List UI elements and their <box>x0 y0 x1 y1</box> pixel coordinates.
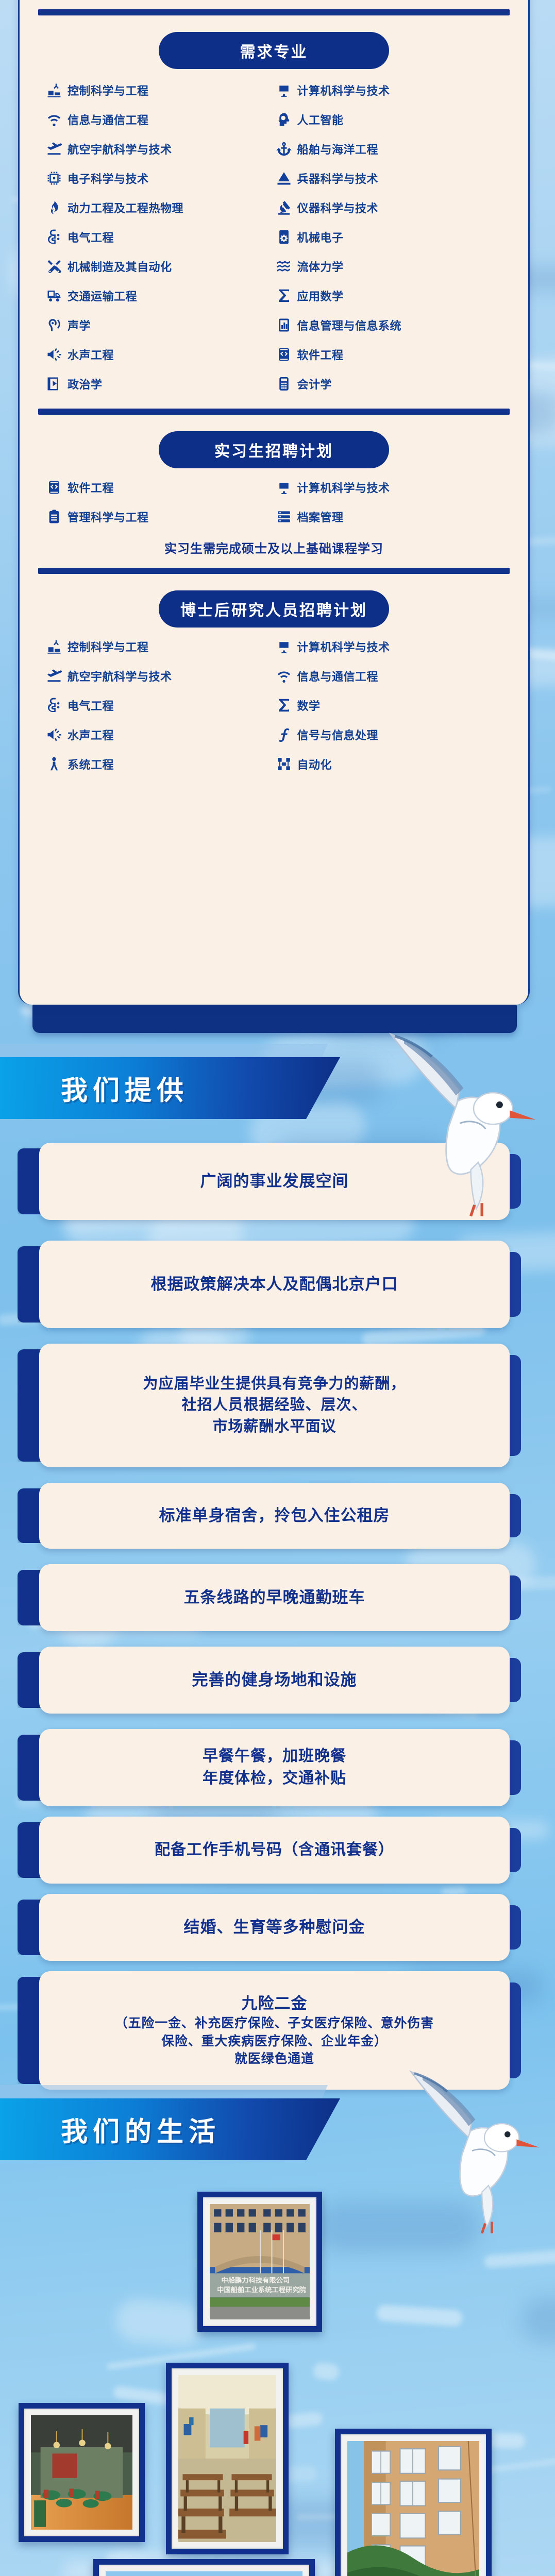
power-plug-icon <box>46 229 62 245</box>
anchor-icon <box>276 141 292 157</box>
major-label: 航空宇航科学与技术 <box>68 668 172 684</box>
major-item: 人工智能 <box>276 105 506 134</box>
major-item: 动力工程及工程热物理 <box>46 193 276 222</box>
major-label: 控制科学与工程 <box>68 638 149 655</box>
benefit-main-text: 结婚、生育等多种慰问金 <box>184 1916 365 1939</box>
section-title-postdoc: 博士后研究人员招聘计划 <box>159 590 389 628</box>
major-item: 控制科学与工程 <box>46 75 276 105</box>
waves-icon <box>276 259 292 274</box>
sonar-speaker-icon <box>46 727 62 742</box>
section-title-majors: 需求专业 <box>159 32 389 69</box>
sound-ear-icon <box>46 317 62 333</box>
benefit-card-body: 五条线路的早晚通勤班车 <box>39 1564 510 1631</box>
major-label: 信息与通信工程 <box>68 111 149 128</box>
benefit-main-text: 早餐午餐，加班晚餐年度体检，交通补贴 <box>203 1745 346 1789</box>
major-label: 控制科学与工程 <box>68 82 149 98</box>
photo-image <box>31 2415 132 2530</box>
clipboard-icon <box>46 509 62 524</box>
major-label: 水声工程 <box>68 346 114 363</box>
major-label: 航空宇航科学与技术 <box>68 141 172 157</box>
major-item: 信息与通信工程 <box>276 661 506 690</box>
major-item: 应用数学 <box>276 281 506 310</box>
flame-icon <box>46 200 62 215</box>
person-icon <box>46 756 62 772</box>
rule-after-intern <box>38 568 510 574</box>
cafe-lounge-photo[interactable] <box>19 2403 145 2542</box>
photo-mat <box>172 2368 283 2549</box>
bg-brush-streak <box>312 2362 340 2381</box>
benefit-card: 根据政策解决本人及配偶北京户口 <box>18 1241 521 1328</box>
major-item: 软件工程 <box>276 340 506 369</box>
major-label: 档案管理 <box>297 509 344 525</box>
major-label: 电子科学与技术 <box>68 170 149 187</box>
benefit-card-body: 根据政策解决本人及配偶北京户口 <box>39 1241 510 1328</box>
major-label: 电气工程 <box>68 229 114 245</box>
major-item: 航空宇航科学与技术 <box>46 134 276 163</box>
major-item: 计算机科学与技术 <box>276 472 506 502</box>
monitor-icon <box>276 480 292 495</box>
majors-grid: 控制科学与工程计算机科学与技术信息与通信工程人工智能航空宇航科学与技术船舶与海洋… <box>20 69 528 398</box>
major-label: 系统工程 <box>68 756 114 772</box>
power-plug-icon <box>46 698 62 713</box>
major-label: 动力工程及工程热物理 <box>68 199 183 216</box>
benefit-card-body: 结婚、生育等多种慰问金 <box>39 1894 510 1961</box>
wrench-cross-icon <box>46 259 62 274</box>
code-brackets-icon <box>46 480 62 495</box>
major-item: 机械电子 <box>276 222 506 251</box>
benefit-text: 五条线路的早晚通勤班车 <box>184 1586 365 1609</box>
major-item: 船舶与海洋工程 <box>276 134 506 163</box>
major-item: 信息与通信工程 <box>46 105 276 134</box>
major-item: 交通运输工程 <box>46 281 276 310</box>
robot-arm-icon <box>46 82 62 98</box>
photo-mat: 中船鹏力科技有限公司 中国船舶工业系统工程研究院 <box>203 2197 316 2326</box>
robot-arm-icon <box>46 639 62 654</box>
major-item: 兵器科学与技术 <box>276 163 506 193</box>
banner-we-provide: 我们提供 <box>0 1057 340 1119</box>
major-item: 计算机科学与技术 <box>276 75 506 105</box>
major-label: 软件工程 <box>68 479 114 496</box>
major-label: 计算机科学与技术 <box>297 479 390 496</box>
benefit-text: 早餐午餐，加班晚餐年度体检，交通补贴 <box>203 1745 346 1789</box>
major-item: 会计学 <box>276 369 506 398</box>
sigma-icon <box>276 698 292 713</box>
major-label: 会计学 <box>297 376 332 392</box>
benefit-text: 九险二金（五险一金、补充医疗保险、子女医疗保险、意外伤害保险、重大疾病医疗保险、… <box>115 1992 434 2069</box>
major-label: 信息与通信工程 <box>297 668 379 684</box>
photo-image <box>178 2375 276 2542</box>
book-play-icon <box>46 376 62 392</box>
major-item: 声学 <box>46 310 276 340</box>
major-label: 流体力学 <box>297 258 344 275</box>
major-label: 声学 <box>68 317 91 333</box>
automation-icon <box>276 756 292 772</box>
benefit-card-body: 为应届毕业生提供具有竞争力的薪酬，社招人员根据经验、层次、市场薪酬水平面议 <box>39 1344 510 1467</box>
benefit-card: 早餐午餐，加班晚餐年度体检，交通补贴 <box>18 1729 521 1806</box>
sonar-speaker-icon <box>46 347 62 362</box>
benefit-text: 完善的健身场地和设施 <box>192 1669 357 1691</box>
recruitment-panel: 需求专业 控制科学与工程计算机科学与技术信息与通信工程人工智能航空宇航科学与技术… <box>18 0 530 1005</box>
photo-image <box>347 2441 479 2576</box>
major-label: 交通运输工程 <box>68 287 137 304</box>
benefit-main-text: 根据政策解决本人及配偶北京户口 <box>151 1273 398 1296</box>
signal-f-icon <box>276 727 292 742</box>
benefit-card: 为应届毕业生提供具有竞争力的薪酬，社招人员根据经验、层次、市场薪酬水平面议 <box>18 1344 521 1467</box>
benefit-main-text: 完善的健身场地和设施 <box>192 1669 357 1691</box>
seagull-illustration <box>367 1023 552 1218</box>
wifi-icon <box>276 668 292 684</box>
benefit-main-text: 五条线路的早晚通勤班车 <box>184 1586 365 1609</box>
benefit-card: 标准单身宿舍，拎包入住公租房 <box>18 1483 521 1549</box>
major-label: 计算机科学与技术 <box>297 638 390 655</box>
truck-icon <box>46 288 62 303</box>
dormitory-photo[interactable] <box>335 2429 492 2576</box>
seagull-illustration <box>390 2056 554 2241</box>
photo-mat <box>24 2409 139 2536</box>
missile-icon <box>276 171 292 186</box>
monitor-icon <box>276 82 292 98</box>
benefit-text: 标准单身宿舍，拎包入住公租房 <box>159 1504 390 1527</box>
major-label: 管理科学与工程 <box>68 509 149 525</box>
major-label: 机械电子 <box>297 229 344 245</box>
major-label: 电气工程 <box>68 697 114 714</box>
major-item: 水声工程 <box>46 340 276 369</box>
brain-gear-icon <box>276 112 292 127</box>
phone-gear-icon <box>276 229 292 245</box>
monitor-icon <box>276 639 292 654</box>
major-item: 流体力学 <box>276 251 506 281</box>
major-item: 信号与信息处理 <box>276 720 506 749</box>
major-item: 系统工程 <box>46 749 276 778</box>
photo-image <box>106 2571 302 2576</box>
benefit-main-text: 九险二金 <box>115 1992 434 2015</box>
benefit-card: 完善的健身场地和设施 <box>18 1647 521 1714</box>
banner-our-life: 我们的生活 <box>0 2098 340 2160</box>
major-item: 仪器科学与技术 <box>276 193 506 222</box>
major-item: 政治学 <box>46 369 276 398</box>
headquarters-sign-photo[interactable]: 中船鹏力科技有限公司 中国船舶工业系统工程研究院 <box>197 2192 322 2332</box>
microscope-icon <box>276 200 292 215</box>
photo-mat <box>341 2434 486 2576</box>
major-label: 兵器科学与技术 <box>297 170 379 187</box>
major-item: 自动化 <box>276 749 506 778</box>
major-label: 仪器科学与技术 <box>297 199 379 216</box>
benefit-main-text: 配备工作手机号码（含通讯套餐） <box>155 1839 394 1861</box>
major-item: 电子科学与技术 <box>46 163 276 193</box>
benefit-card-body: 标准单身宿舍，拎包入住公租房 <box>39 1483 510 1549</box>
code-brackets-icon <box>276 347 292 362</box>
major-item: 机械制造及其自动化 <box>46 251 276 281</box>
major-label: 计算机科学与技术 <box>297 82 390 98</box>
bar-chart-icon <box>276 317 292 333</box>
airplane-icon <box>46 668 62 684</box>
photo-image: 中船鹏力科技有限公司 中国船舶工业系统工程研究院 <box>210 2204 310 2319</box>
benefit-sub-text: （五险一金、补充医疗保险、子女医疗保险、意外伤害保险、重大疾病医疗保险、企业年金… <box>115 2015 434 2069</box>
benefit-card-body: 配备工作手机号码（含通讯套餐） <box>39 1817 510 1884</box>
major-item: 软件工程 <box>46 472 276 502</box>
major-label: 应用数学 <box>297 287 344 304</box>
major-label: 人工智能 <box>297 111 344 128</box>
benefit-card: 结婚、生育等多种慰问金 <box>18 1894 521 1961</box>
major-label: 软件工程 <box>297 346 344 363</box>
chip-icon <box>46 171 62 186</box>
benefit-card-body: 完善的健身场地和设施 <box>39 1647 510 1714</box>
major-item: 档案管理 <box>276 502 506 531</box>
panel-top-rule <box>38 9 510 15</box>
major-label: 自动化 <box>297 756 332 772</box>
benefit-main-text: 为应届毕业生提供具有竞争力的薪酬，社招人员根据经验、层次、市场薪酬水平面议 <box>143 1374 406 1437</box>
section-title-intern: 实习生招聘计划 <box>159 431 389 468</box>
svg-text:中国船舶工业系统工程研究院: 中国船舶工业系统工程研究院 <box>217 2285 306 2294</box>
bg-brush-streak <box>483 2244 555 2268</box>
benefit-text: 为应届毕业生提供具有竞争力的薪酬，社招人员根据经验、层次、市场薪酬水平面议 <box>143 1374 406 1437</box>
banner-our-life-label: 我们的生活 <box>61 2110 221 2149</box>
major-label: 水声工程 <box>68 726 114 743</box>
benefit-text: 配备工作手机号码（含通讯套餐） <box>155 1839 394 1861</box>
intern-grid: 软件工程计算机科学与技术管理科学与工程档案管理 <box>20 468 528 531</box>
bg-shadow-wash <box>520 2297 555 2343</box>
major-label: 信号与信息处理 <box>297 726 379 743</box>
major-item: 数学 <box>276 690 506 720</box>
intern-note: 实习生需完成硕士及以上基础课程学习 <box>20 538 528 556</box>
major-item: 航空宇航科学与技术 <box>46 661 276 690</box>
sigma-icon <box>276 288 292 303</box>
major-label: 机械制造及其自动化 <box>68 258 172 275</box>
rule-after-majors <box>38 409 510 415</box>
major-label: 政治学 <box>68 376 103 392</box>
benefit-text: 根据政策解决本人及配偶北京户口 <box>151 1273 398 1296</box>
major-item: 管理科学与工程 <box>46 502 276 531</box>
wifi-icon <box>46 112 62 127</box>
major-item: 计算机科学与技术 <box>276 632 506 661</box>
canteen-photo[interactable] <box>166 2363 289 2554</box>
office-tower-photo[interactable] <box>93 2559 315 2576</box>
benefit-card: 五条线路的早晚通勤班车 <box>18 1564 521 1631</box>
banner-we-provide-label: 我们提供 <box>61 1069 189 1108</box>
major-item: 水声工程 <box>46 720 276 749</box>
bg-brush-streak <box>377 2304 463 2326</box>
svg-text:中船鹏力科技有限公司: 中船鹏力科技有限公司 <box>221 2276 290 2285</box>
major-item: 电气工程 <box>46 690 276 720</box>
benefit-text: 广阔的事业发展空间 <box>200 1170 349 1193</box>
benefit-card: 配备工作手机号码（含通讯套餐） <box>18 1817 521 1884</box>
major-label: 船舶与海洋工程 <box>297 141 379 157</box>
major-label: 信息管理与信息系统 <box>297 317 402 333</box>
benefit-main-text: 标准单身宿舍，拎包入住公租房 <box>159 1504 390 1527</box>
benefit-main-text: 广阔的事业发展空间 <box>200 1170 349 1193</box>
airplane-icon <box>46 141 62 157</box>
archive-rows-icon <box>276 509 292 524</box>
major-label: 数学 <box>297 697 321 714</box>
benefit-card-body: 早餐午餐，加班晚餐年度体检，交通补贴 <box>39 1729 510 1806</box>
major-item: 信息管理与信息系统 <box>276 310 506 340</box>
benefit-text: 结婚、生育等多种慰问金 <box>184 1916 365 1939</box>
major-item: 电气工程 <box>46 222 276 251</box>
postdoc-grid: 控制科学与工程计算机科学与技术航空宇航科学与技术信息与通信工程电气工程数学水声工… <box>20 628 528 778</box>
calculator-icon <box>276 376 292 392</box>
major-item: 控制科学与工程 <box>46 632 276 661</box>
photo-mat <box>99 2565 309 2576</box>
bg-wash <box>113 2297 205 2348</box>
